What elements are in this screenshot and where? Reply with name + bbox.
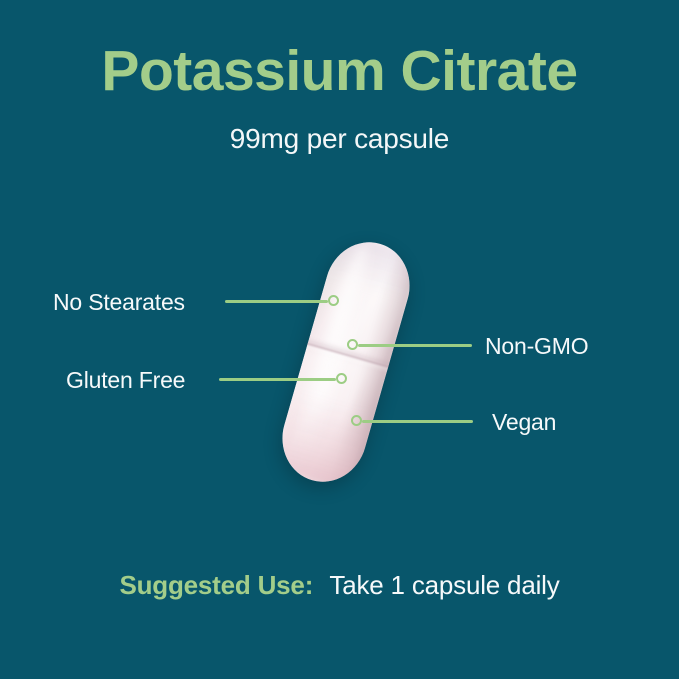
leader-line-no-stearates: [225, 300, 328, 303]
capsule-image-container: [271, 243, 419, 481]
capsule-illustration: [272, 232, 421, 492]
leader-line-gluten-free: [219, 378, 336, 381]
product-info-graphic: Potassium Citrate 99mg per capsule No St…: [0, 0, 679, 679]
page-title: Potassium Citrate: [0, 42, 679, 102]
leader-line-non-gmo: [358, 344, 472, 347]
callout-label-non-gmo: Non-GMO: [485, 333, 588, 360]
leader-dot-gluten-free: [336, 373, 347, 384]
suggested-use-value: Take 1 capsule daily: [329, 570, 559, 600]
callout-label-no-stearates: No Stearates: [53, 289, 185, 316]
suggested-use-label: Suggested Use:: [119, 570, 313, 600]
leader-dot-non-gmo: [347, 339, 358, 350]
callout-label-gluten-free: Gluten Free: [66, 367, 185, 394]
dosage-subtitle: 99mg per capsule: [0, 123, 679, 155]
callout-label-vegan: Vegan: [492, 409, 556, 436]
leader-line-vegan: [362, 420, 473, 423]
leader-dot-no-stearates: [328, 295, 339, 306]
suggested-use-row: Suggested Use: Take 1 capsule daily: [0, 570, 679, 601]
leader-dot-vegan: [351, 415, 362, 426]
